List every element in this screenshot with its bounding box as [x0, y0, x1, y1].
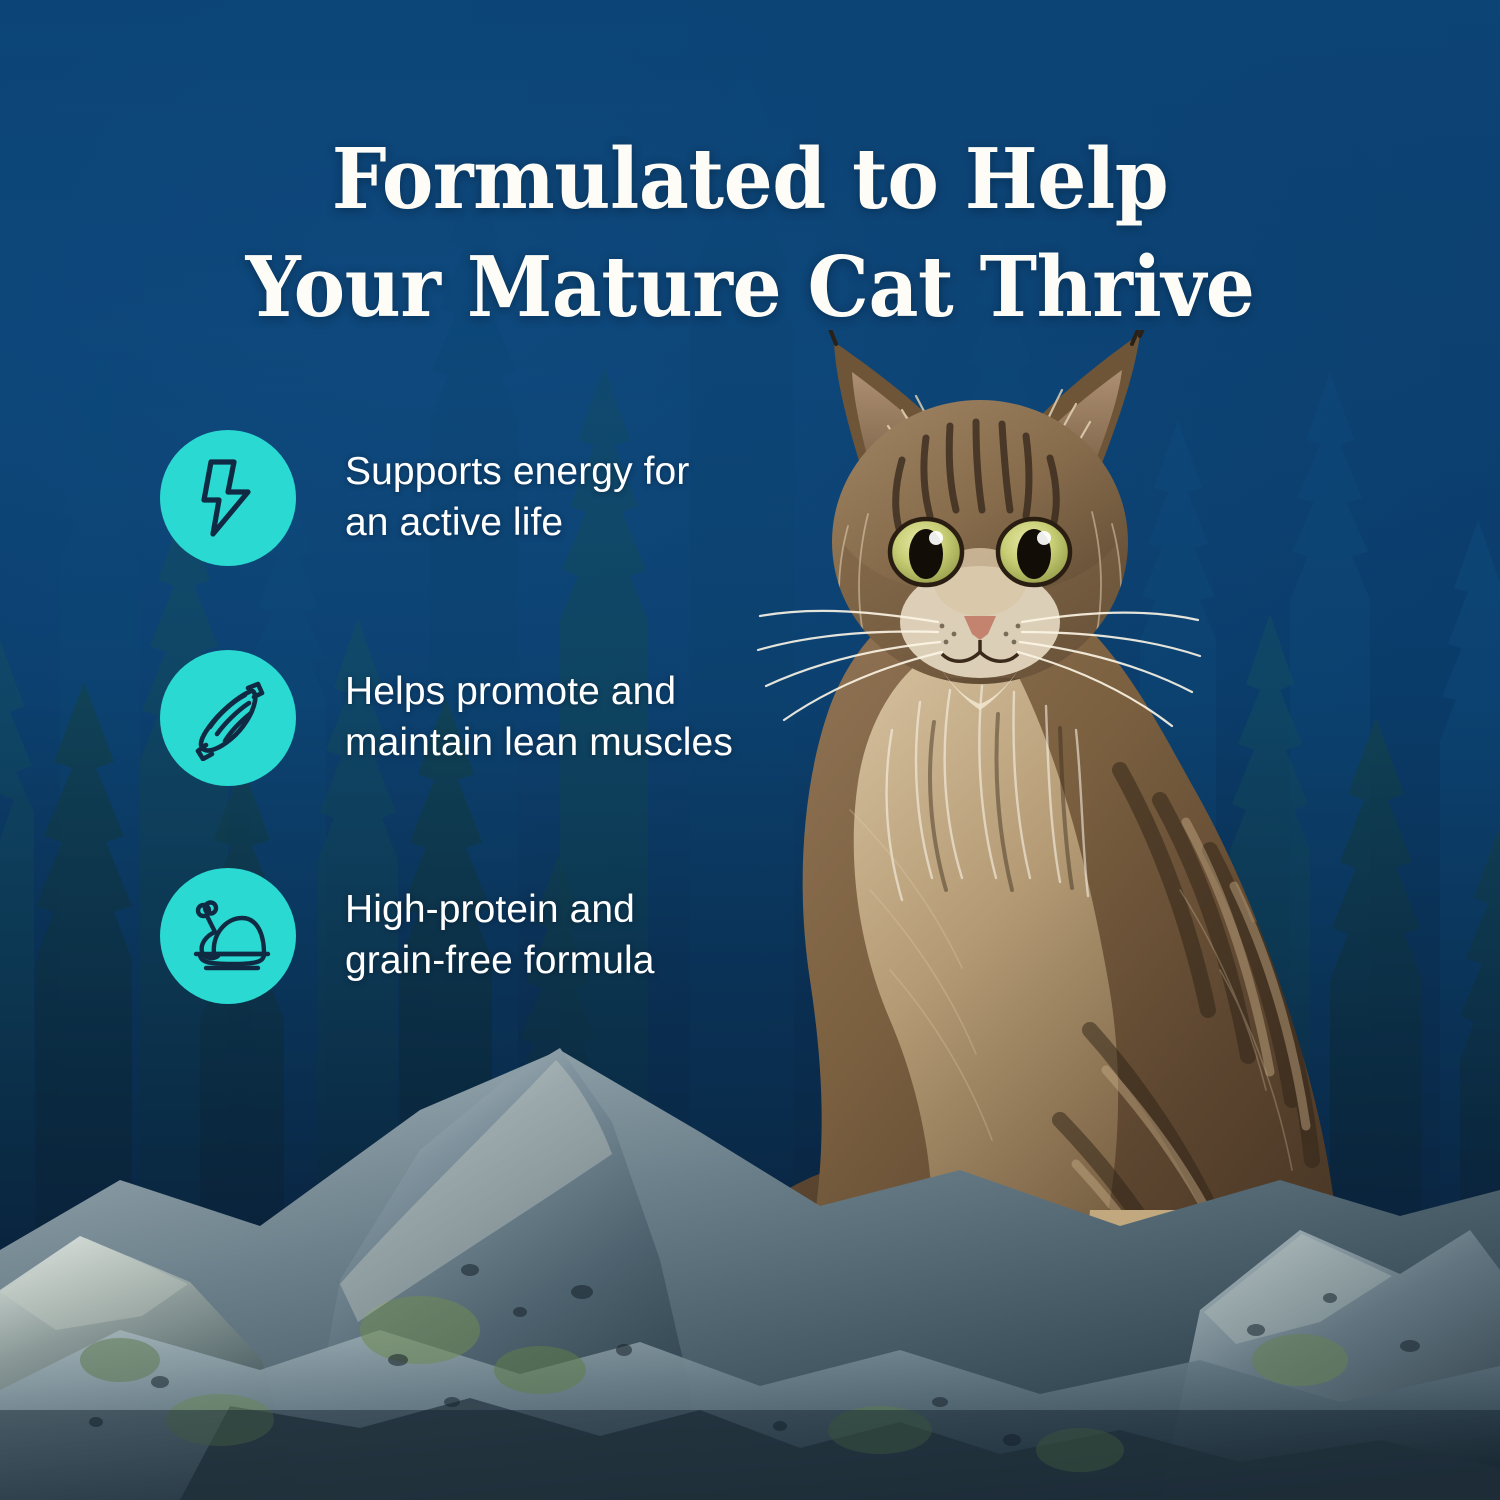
- feature-icon-badge: [160, 430, 296, 566]
- feature-icon-badge: [160, 868, 296, 1004]
- feature-label: High-protein and grain-free formula: [345, 885, 655, 986]
- product-feature-banner: Formulated to Help Your Mature Cat Thriv…: [0, 0, 1500, 1500]
- feature-item-muscle: Helps promote and maintain lean muscles: [160, 650, 733, 786]
- feature-label: Helps promote and maintain lean muscles: [345, 667, 733, 768]
- roast-chicken-platter-icon: [184, 892, 272, 980]
- feature-list: Supports energy for an active life Helps…: [0, 0, 1500, 1500]
- feature-item-protein: High-protein and grain-free formula: [160, 868, 655, 1004]
- muscle-fiber-icon: [185, 675, 271, 761]
- feature-item-energy: Supports energy for an active life: [160, 430, 689, 566]
- feature-label: Supports energy for an active life: [345, 447, 689, 548]
- feature-icon-badge: [160, 650, 296, 786]
- lightning-bolt-icon: [186, 456, 270, 540]
